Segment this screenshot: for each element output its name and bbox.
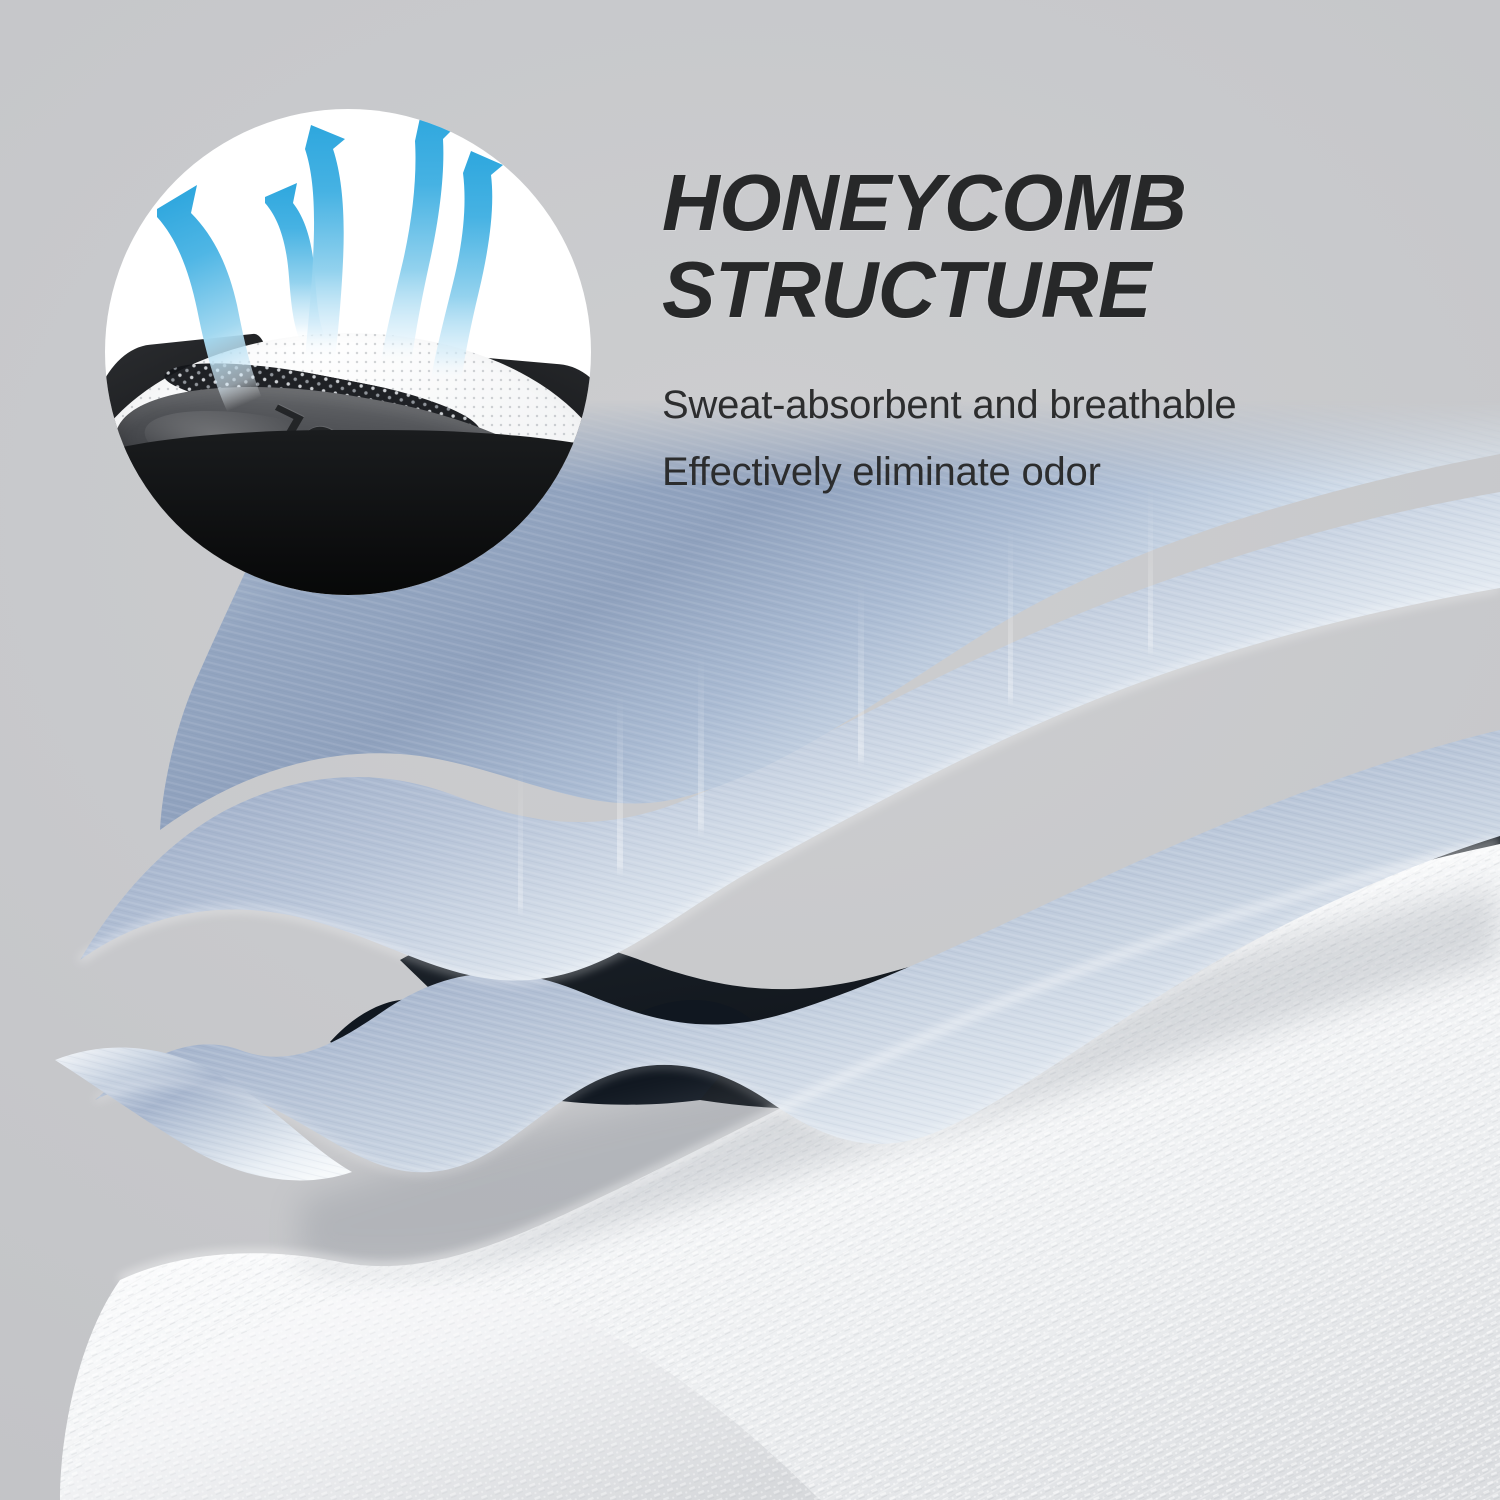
product-feature-image: COOL — [0, 0, 1500, 1500]
subtitle-line-1: Sweat-absorbent and breathable — [662, 373, 1382, 438]
page-title-line-1: HONEYCOMB — [662, 163, 1382, 242]
subtitle-line-2: Effectively eliminate odor — [662, 440, 1382, 505]
breathability-closeup-circle: COOL — [105, 109, 591, 595]
page-title-line-2: STRUCTURE — [662, 250, 1382, 329]
inset-photo: COOL — [105, 109, 591, 595]
airflow-arrow-1 — [157, 185, 267, 423]
airflow-arrow-3 — [305, 125, 345, 361]
airflow-arrows — [105, 109, 591, 595]
headline-block: HONEYCOMB STRUCTURE Sweat-absorbent and … — [662, 163, 1382, 505]
